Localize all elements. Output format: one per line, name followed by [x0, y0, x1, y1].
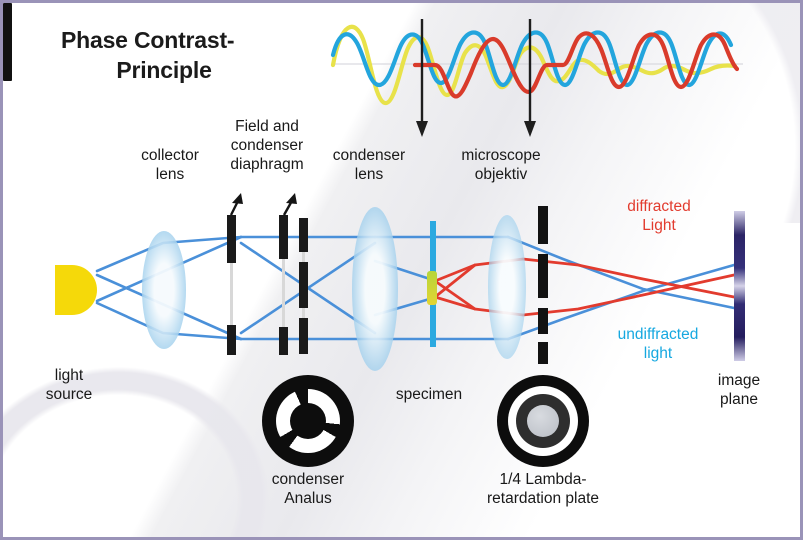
arrow-up-icon: [231, 193, 243, 215]
diagram-frame: Phase Contrast- Principle: [0, 0, 803, 540]
diagram-canvas: Phase Contrast- Principle: [3, 3, 800, 537]
arrow-up-icon: [284, 193, 297, 215]
diaphragm-arrows: [3, 3, 800, 537]
